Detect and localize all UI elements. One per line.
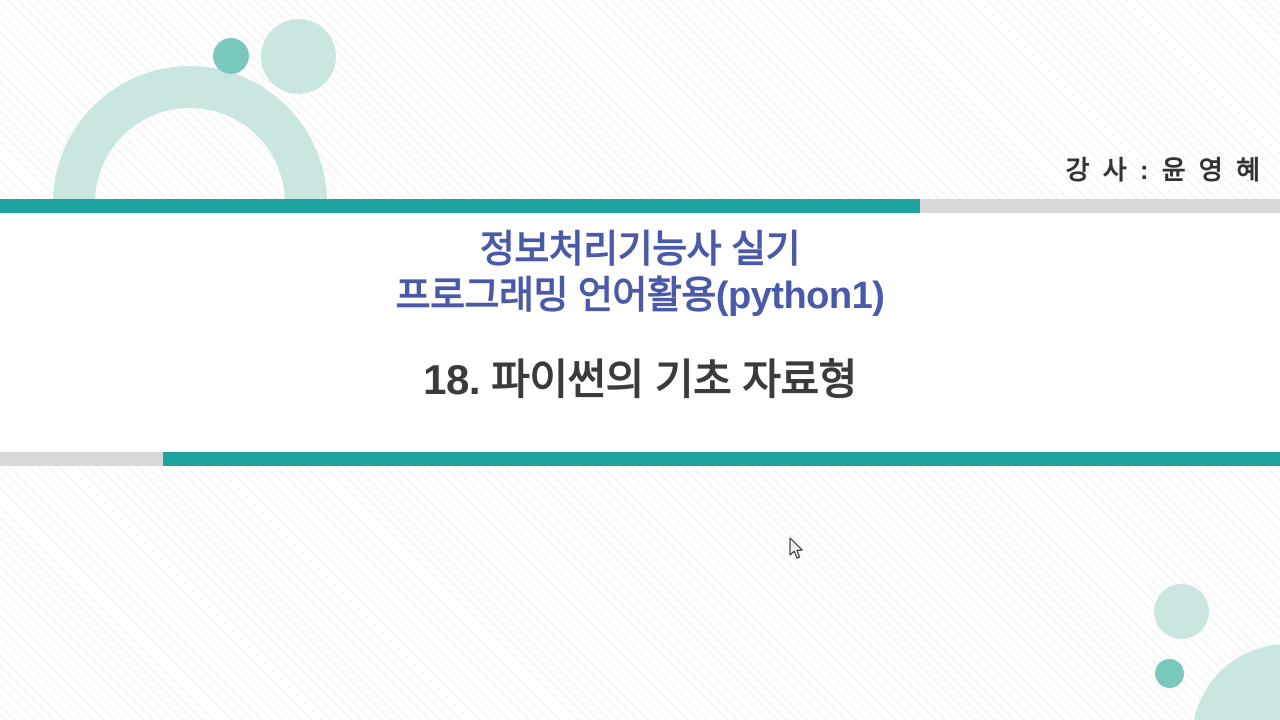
title-band: 정보처리기능사 실기 프로그래밍 언어활용(python1) 18. 파이썬의 … <box>0 213 1280 452</box>
top-rule-bar <box>0 199 1280 213</box>
medium-circle-icon <box>1154 584 1209 639</box>
arrow-cursor-icon <box>789 537 805 561</box>
instructor-label: 강 사 : 윤 영 혜 <box>1066 150 1263 187</box>
bottom-rule-gray-segment <box>0 452 163 466</box>
large-circle-icon <box>1192 644 1280 720</box>
course-title: 정보처리기능사 실기 프로그래밍 언어활용(python1) <box>0 213 1280 320</box>
top-rule-gray-segment <box>920 199 1280 213</box>
bottom-rule-bar <box>0 452 1280 466</box>
small-dot-circle-icon <box>1155 659 1184 688</box>
bottom-rule-teal-segment <box>163 452 1280 466</box>
medium-circle-icon <box>261 19 336 94</box>
top-rule-teal-segment <box>0 199 920 213</box>
lesson-title: 18. 파이썬의 기초 자료형 <box>0 320 1280 407</box>
presentation-slide: 강 사 : 윤 영 혜 정보처리기능사 실기 프로그래밍 언어활용(python… <box>0 0 1280 720</box>
small-dot-circle-icon <box>213 38 249 74</box>
